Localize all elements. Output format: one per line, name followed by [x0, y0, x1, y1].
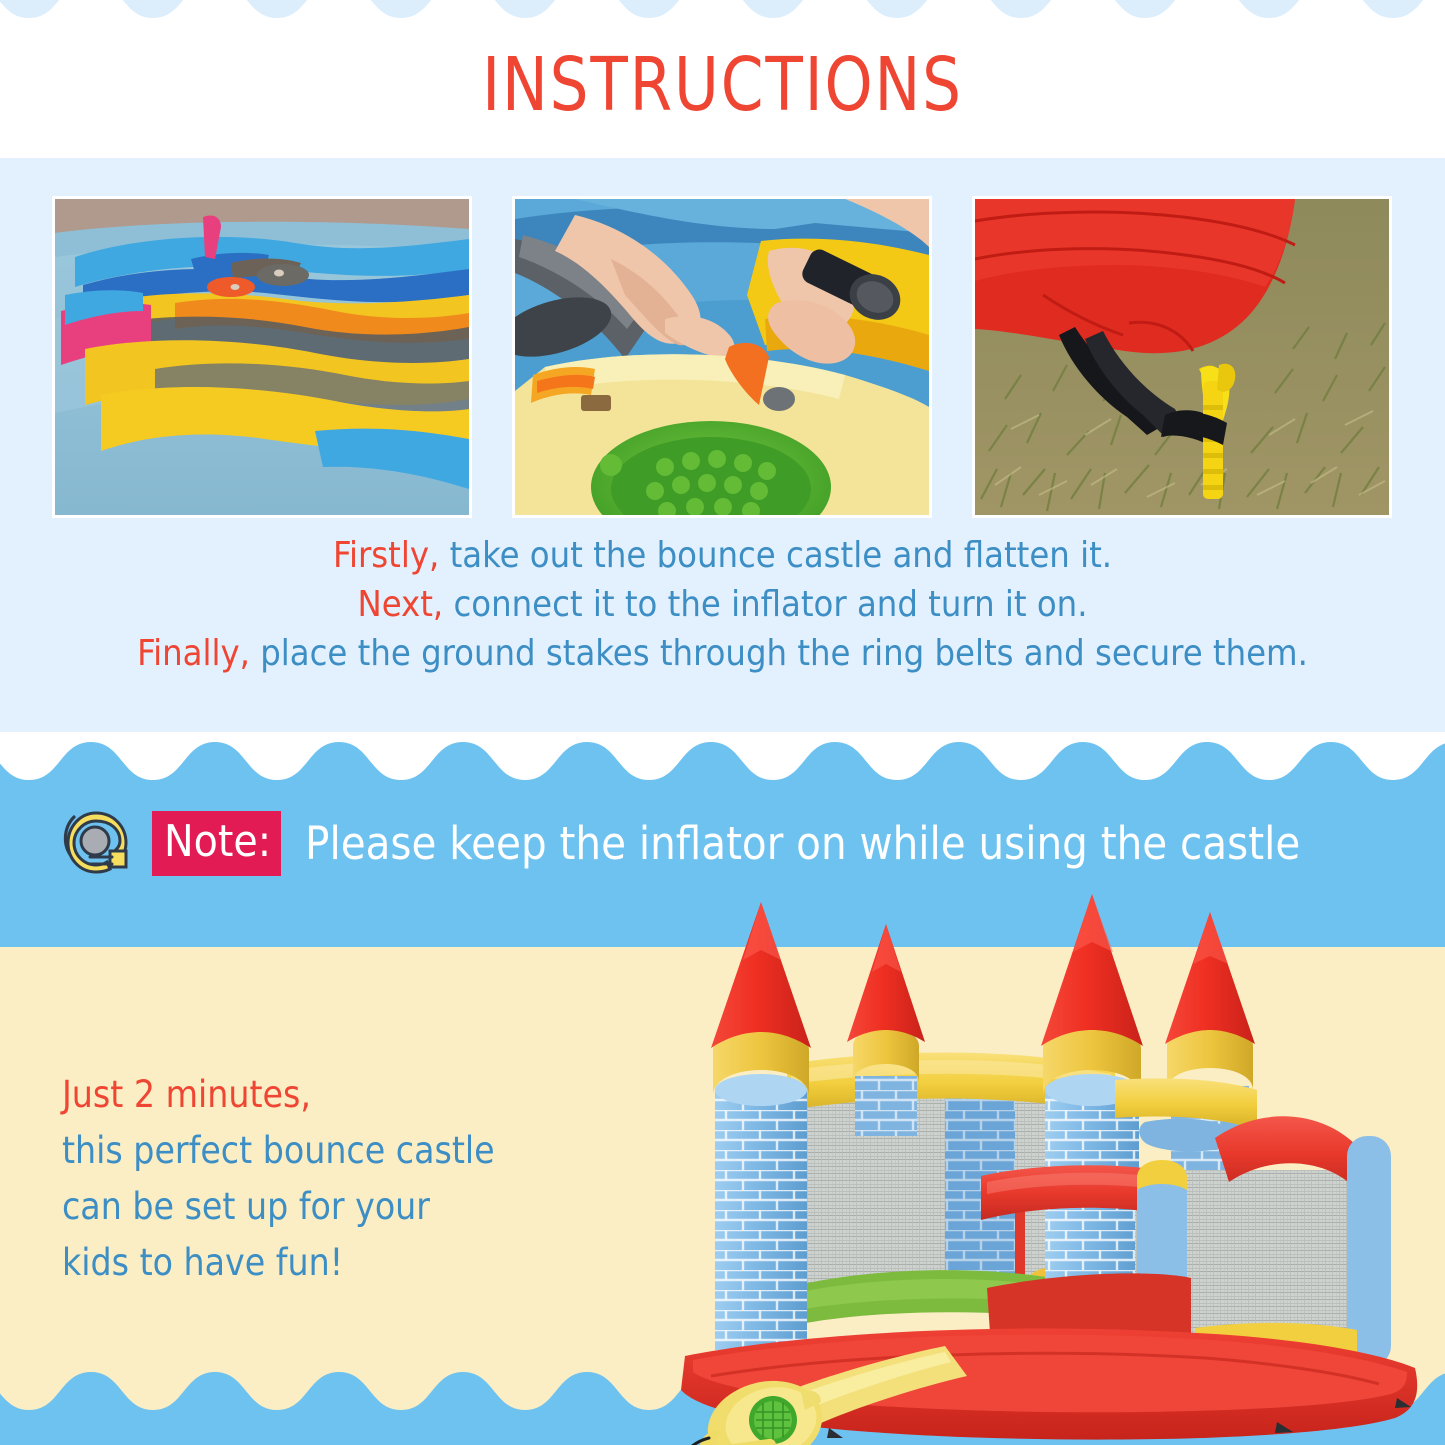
note-section: Note: Please keep the inflator on while … [0, 732, 1445, 947]
top-scallop-divider [0, 0, 1445, 18]
note-row: Note: Please keep the inflator on while … [60, 807, 1300, 879]
note-text: Please keep the inflator on while using … [305, 821, 1300, 866]
step-3-text: place the ground stakes through the ring… [250, 633, 1308, 674]
instructions-section: Firstly, take out the bounce castle and … [0, 158, 1445, 732]
step-1-lead: Firstly, [333, 535, 439, 576]
product-body-line-3: kids to have fun! [62, 1241, 343, 1284]
product-headline: Just 2 minutes, [62, 1067, 622, 1123]
tape-measure-icon [60, 807, 132, 879]
footer-scallop-divider [0, 1367, 1445, 1410]
step-3: Finally, place the ground stakes through… [0, 629, 1445, 678]
step-2: Next, connect it to the inflator and tur… [0, 580, 1445, 629]
header-section: INSTRUCTIONS [0, 0, 1445, 158]
note-badge: Note: [152, 811, 281, 876]
footer-section [0, 1367, 1445, 1445]
instructions-infographic: INSTRUCTIONS [0, 0, 1445, 1445]
product-body-line-1: this perfect bounce castle [62, 1129, 495, 1172]
step-2-text: connect it to the inflator and turn it o… [443, 584, 1087, 625]
step-1-text: take out the bounce castle and flatten i… [439, 535, 1112, 576]
page-title: INSTRUCTIONS [58, 48, 1387, 122]
step-1: Firstly, take out the bounce castle and … [0, 531, 1445, 580]
step-3-lead: Finally, [137, 633, 250, 674]
product-body-line-2: can be set up for your [62, 1185, 430, 1228]
photo-ground-stake [972, 196, 1392, 518]
product-scallop-divider [0, 947, 1445, 1011]
product-blurb: Just 2 minutes, this perfect bounce cast… [62, 1067, 622, 1291]
instruction-steps: Firstly, take out the bounce castle and … [0, 531, 1445, 678]
product-section: Just 2 minutes, this perfect bounce cast… [0, 947, 1445, 1367]
instruction-photo-row [0, 196, 1445, 521]
photo-deflated-castle [52, 196, 472, 518]
step-2-lead: Next, [358, 584, 444, 625]
note-scallop-divider [0, 732, 1445, 780]
photo-connect-inflator [512, 196, 932, 518]
